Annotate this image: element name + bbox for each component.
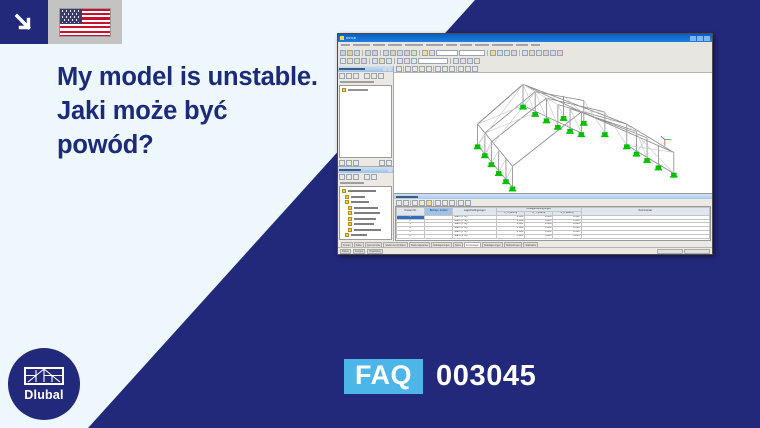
- menu-item-zusatzmodule[interactable]: [492, 44, 513, 46]
- status-bar[interactable]: Raster Fangen Objektfang: [338, 247, 712, 254]
- view-zoom-all-icon[interactable]: [405, 66, 411, 72]
- grid-icon[interactable]: [347, 58, 353, 64]
- navigator-tab-results-icon[interactable]: [353, 73, 359, 79]
- navigator-title: [339, 68, 365, 70]
- application-window: RSTAB: [337, 33, 713, 255]
- view-iso-icon[interactable]: [396, 66, 402, 72]
- save-icon[interactable]: [354, 50, 360, 56]
- col-node-no[interactable]: Knoten Nr.: [397, 208, 425, 216]
- menu-item-ansicht[interactable]: [373, 44, 385, 46]
- list-item[interactable]: [342, 233, 389, 237]
- table-new-row-icon[interactable]: [396, 200, 402, 206]
- folder-icon: [348, 222, 352, 226]
- cell-ref-node[interactable]: [425, 234, 453, 238]
- navigator-section-label: [338, 79, 393, 84]
- results-icon[interactable]: [557, 50, 563, 56]
- tree-info-icon[interactable]: [371, 174, 377, 180]
- slide-canvas: My model is unstable. Jaki może być powó…: [0, 0, 760, 428]
- toolbar-row-secondary[interactable]: [340, 57, 710, 64]
- nav-up-button[interactable]: [379, 160, 385, 166]
- status-coord-field: [684, 249, 710, 254]
- cell-uz[interactable]: 0.000: [553, 234, 581, 238]
- view-wire-icon[interactable]: [442, 66, 448, 72]
- nav-edit-button[interactable]: [346, 160, 352, 166]
- folder-icon: [345, 200, 349, 204]
- dlubal-bridge-icon: [24, 366, 64, 386]
- view-numbering-icon[interactable]: [449, 66, 455, 72]
- redo-icon[interactable]: [411, 50, 417, 56]
- window-title: RSTAB: [346, 36, 356, 40]
- wireframe-icon[interactable]: [429, 50, 435, 56]
- menu-item-bearbeiten[interactable]: [353, 44, 370, 46]
- folder-icon: [348, 211, 352, 215]
- project-navigator-panel[interactable]: [338, 66, 394, 241]
- faq-badge: FAQ: [344, 359, 423, 394]
- navigator-tab-views-icon[interactable]: [364, 73, 370, 79]
- menu-item-optionen[interactable]: [475, 44, 489, 46]
- open-icon[interactable]: [347, 50, 353, 56]
- display-icon[interactable]: [453, 58, 459, 64]
- menu-item-berechnung[interactable]: [405, 44, 423, 46]
- dlubal-logo: Dlubal: [8, 348, 80, 420]
- logo-wordmark: Dlubal: [24, 388, 63, 402]
- render-icon[interactable]: [422, 50, 428, 56]
- view-pan-icon[interactable]: [419, 66, 425, 72]
- faq-number: 003045: [436, 360, 536, 393]
- navigator-toolbar[interactable]: [338, 72, 393, 79]
- menu-item-einfuegen[interactable]: [388, 44, 402, 46]
- viewport-column: Knoten Nr. Bezugs- knoten Lagerbedingung…: [394, 66, 712, 241]
- view-zoom-window-icon[interactable]: [412, 66, 418, 72]
- table-sort-icon[interactable]: [442, 200, 448, 206]
- preview-icon[interactable]: [372, 50, 378, 56]
- navigator-tab-display-icon[interactable]: [346, 73, 352, 79]
- list-item[interactable]: [342, 200, 389, 204]
- toolbar-separator: [394, 58, 395, 64]
- toolbar-row-primary[interactable]: [340, 49, 710, 56]
- view-rotate-icon[interactable]: [426, 66, 432, 72]
- nav-down-button[interactable]: [386, 160, 392, 166]
- structure-tree[interactable]: [339, 186, 392, 240]
- status-info-field: [657, 249, 683, 254]
- paste-icon[interactable]: [397, 50, 403, 56]
- tree-settings-icon[interactable]: [364, 174, 370, 180]
- snap-icon[interactable]: [354, 58, 360, 64]
- data-grid[interactable]: Knoten Nr. Bezugs- knoten Lagerbedingung…: [395, 206, 711, 241]
- col-comment[interactable]: Kommentar: [581, 208, 709, 216]
- folder-icon: [348, 217, 352, 221]
- arrow-down-right-icon: [0, 0, 48, 44]
- menu-item-hilfe[interactable]: [531, 44, 540, 46]
- rotate-icon[interactable]: [511, 50, 517, 56]
- cell-uy[interactable]: 0.000: [525, 234, 553, 238]
- dimension-icon[interactable]: [372, 58, 378, 64]
- app-icon: [340, 36, 344, 40]
- folder-icon: [342, 189, 346, 193]
- table-highlight-icon[interactable]: [426, 200, 432, 206]
- folder-icon: [348, 228, 352, 232]
- cell-ux[interactable]: 0.000: [497, 234, 525, 238]
- list-item[interactable]: [342, 228, 389, 232]
- text-icon[interactable]: [379, 58, 385, 64]
- view-support-icon[interactable]: [465, 66, 471, 72]
- col-support-conditions[interactable]: Lagerbedingungen: [453, 208, 497, 216]
- calculate-icon[interactable]: [550, 50, 556, 56]
- copy-icon[interactable]: [390, 50, 396, 56]
- minimize-button[interactable]: [690, 36, 696, 41]
- page-title: My model is unstable. Jaki może być powó…: [57, 60, 319, 162]
- table-row[interactable]: 6 Starr (XYZ) 0.000 0.000 0.000: [397, 234, 710, 238]
- tree-section-label: [338, 180, 393, 185]
- member-icon[interactable]: [529, 50, 535, 56]
- faq-block: FAQ 003045: [344, 359, 536, 394]
- view-section-icon[interactable]: [458, 66, 464, 72]
- col-reference-node[interactable]: Bezugs- knoten: [425, 208, 453, 216]
- folder-icon: [342, 88, 346, 92]
- table-copy-icon[interactable]: [419, 200, 425, 206]
- navigator-pin-button[interactable]: [383, 67, 387, 71]
- list-item[interactable]: [342, 211, 389, 215]
- cell-conditions[interactable]: Starr (XYZ): [453, 234, 497, 238]
- navigator-list[interactable]: [339, 85, 392, 158]
- status-raster-button[interactable]: Raster: [340, 249, 351, 254]
- folder-icon: [345, 195, 349, 199]
- list-item[interactable]: [342, 189, 389, 193]
- menu-item-datei[interactable]: [341, 44, 350, 46]
- table-pane: Knoten Nr. Bezugs- knoten Lagerbedingung…: [394, 193, 712, 241]
- navigator-footer-toolbar[interactable]: [338, 159, 393, 166]
- tree-toolbar[interactable]: [338, 173, 393, 180]
- list-item[interactable]: [342, 206, 389, 210]
- help-icon[interactable]: [474, 58, 480, 64]
- toolbar-separator: [369, 58, 370, 64]
- folder-icon: [348, 206, 352, 210]
- top-badge-group: [0, 0, 122, 44]
- window-body: Knoten Nr. Bezugs- knoten Lagerbedingung…: [338, 66, 712, 241]
- section-icon[interactable]: [397, 58, 403, 64]
- ortho-icon[interactable]: [361, 58, 367, 64]
- structural-frame-model: [394, 73, 712, 193]
- tree-close-button[interactable]: [388, 168, 392, 172]
- toolbar-separator: [487, 50, 488, 56]
- status-objektfang-button[interactable]: Objektfang: [367, 249, 383, 254]
- navigator-tab-print-icon[interactable]: [371, 73, 377, 79]
- list-item[interactable]: [342, 195, 389, 199]
- toolbar-separator: [380, 50, 381, 56]
- table-body[interactable]: 1 Starr (XYZ) 0.000 0.000 0.000 2: [397, 215, 710, 238]
- cell-comment[interactable]: [581, 234, 709, 238]
- load-icon[interactable]: [543, 50, 549, 56]
- axis-triad: [661, 136, 672, 146]
- menu-item-tabelle[interactable]: [460, 44, 472, 46]
- list-item[interactable]: [342, 88, 389, 92]
- tree-expand-icon[interactable]: [339, 174, 345, 180]
- support-icon[interactable]: [536, 50, 542, 56]
- new-icon[interactable]: [340, 50, 346, 56]
- zoom-out-icon[interactable]: [497, 50, 503, 56]
- list-item[interactable]: [342, 222, 389, 226]
- toolbar-separator: [362, 50, 363, 56]
- undo-icon[interactable]: [404, 50, 410, 56]
- model-viewport[interactable]: [394, 73, 712, 193]
- view-load-icon[interactable]: [472, 66, 478, 72]
- toolbar-separator: [519, 50, 520, 56]
- snap-mode-select[interactable]: [418, 58, 448, 64]
- table-export-icon[interactable]: [458, 200, 464, 206]
- tree-collapse-icon[interactable]: [346, 174, 352, 180]
- cut-icon[interactable]: [383, 50, 389, 56]
- pan-icon[interactable]: [504, 50, 510, 56]
- table-filter-icon[interactable]: [435, 200, 441, 206]
- print-icon[interactable]: [365, 50, 371, 56]
- window-controls[interactable]: [690, 36, 710, 41]
- toolbar-separator: [450, 58, 451, 64]
- structure-tree-panel[interactable]: [338, 166, 393, 241]
- view-select[interactable]: [459, 50, 485, 56]
- select-icon[interactable]: [340, 58, 346, 64]
- deform-icon[interactable]: [460, 58, 466, 64]
- nav-add-button[interactable]: [339, 160, 345, 166]
- list-item[interactable]: [342, 217, 389, 221]
- menu-item-fenster[interactable]: [516, 44, 528, 46]
- zoom-in-icon[interactable]: [490, 50, 496, 56]
- menu-item-extras[interactable]: [446, 44, 457, 46]
- us-flag-icon: [48, 0, 122, 44]
- window-titlebar: RSTAB: [338, 34, 712, 42]
- layer-icon[interactable]: [386, 58, 392, 64]
- loadcase-select[interactable]: [436, 50, 458, 56]
- nav-delete-button[interactable]: [353, 160, 359, 166]
- navigator-tab-filter-icon[interactable]: [378, 73, 384, 79]
- status-fangen-button[interactable]: Fangen: [353, 249, 365, 254]
- folder-icon: [345, 233, 349, 237]
- table-delete-row-icon[interactable]: [403, 200, 409, 206]
- animation-icon[interactable]: [467, 58, 473, 64]
- navigator-close-button[interactable]: [388, 67, 392, 71]
- material-icon[interactable]: [404, 58, 410, 64]
- support-symbol: [474, 144, 481, 149]
- menu-item-ergebnisse[interactable]: [426, 44, 443, 46]
- toolbar-group[interactable]: [338, 48, 712, 66]
- table-settings-icon[interactable]: [449, 200, 455, 206]
- node-icon[interactable]: [522, 50, 528, 56]
- close-button[interactable]: [704, 36, 710, 41]
- cell-node-no[interactable]: 6: [397, 234, 425, 238]
- table-toolbar[interactable]: [394, 199, 712, 206]
- tree-refresh-icon[interactable]: [353, 174, 359, 180]
- hinge-icon[interactable]: [411, 58, 417, 64]
- table-print-icon[interactable]: [465, 200, 471, 206]
- maximize-button[interactable]: [697, 36, 703, 41]
- navigator-tab-data-icon[interactable]: [339, 73, 345, 79]
- view-render-icon[interactable]: [435, 66, 441, 72]
- table-cut-icon[interactable]: [412, 200, 418, 206]
- toolbar-separator: [419, 50, 420, 56]
- view-toolbar[interactable]: [394, 66, 712, 73]
